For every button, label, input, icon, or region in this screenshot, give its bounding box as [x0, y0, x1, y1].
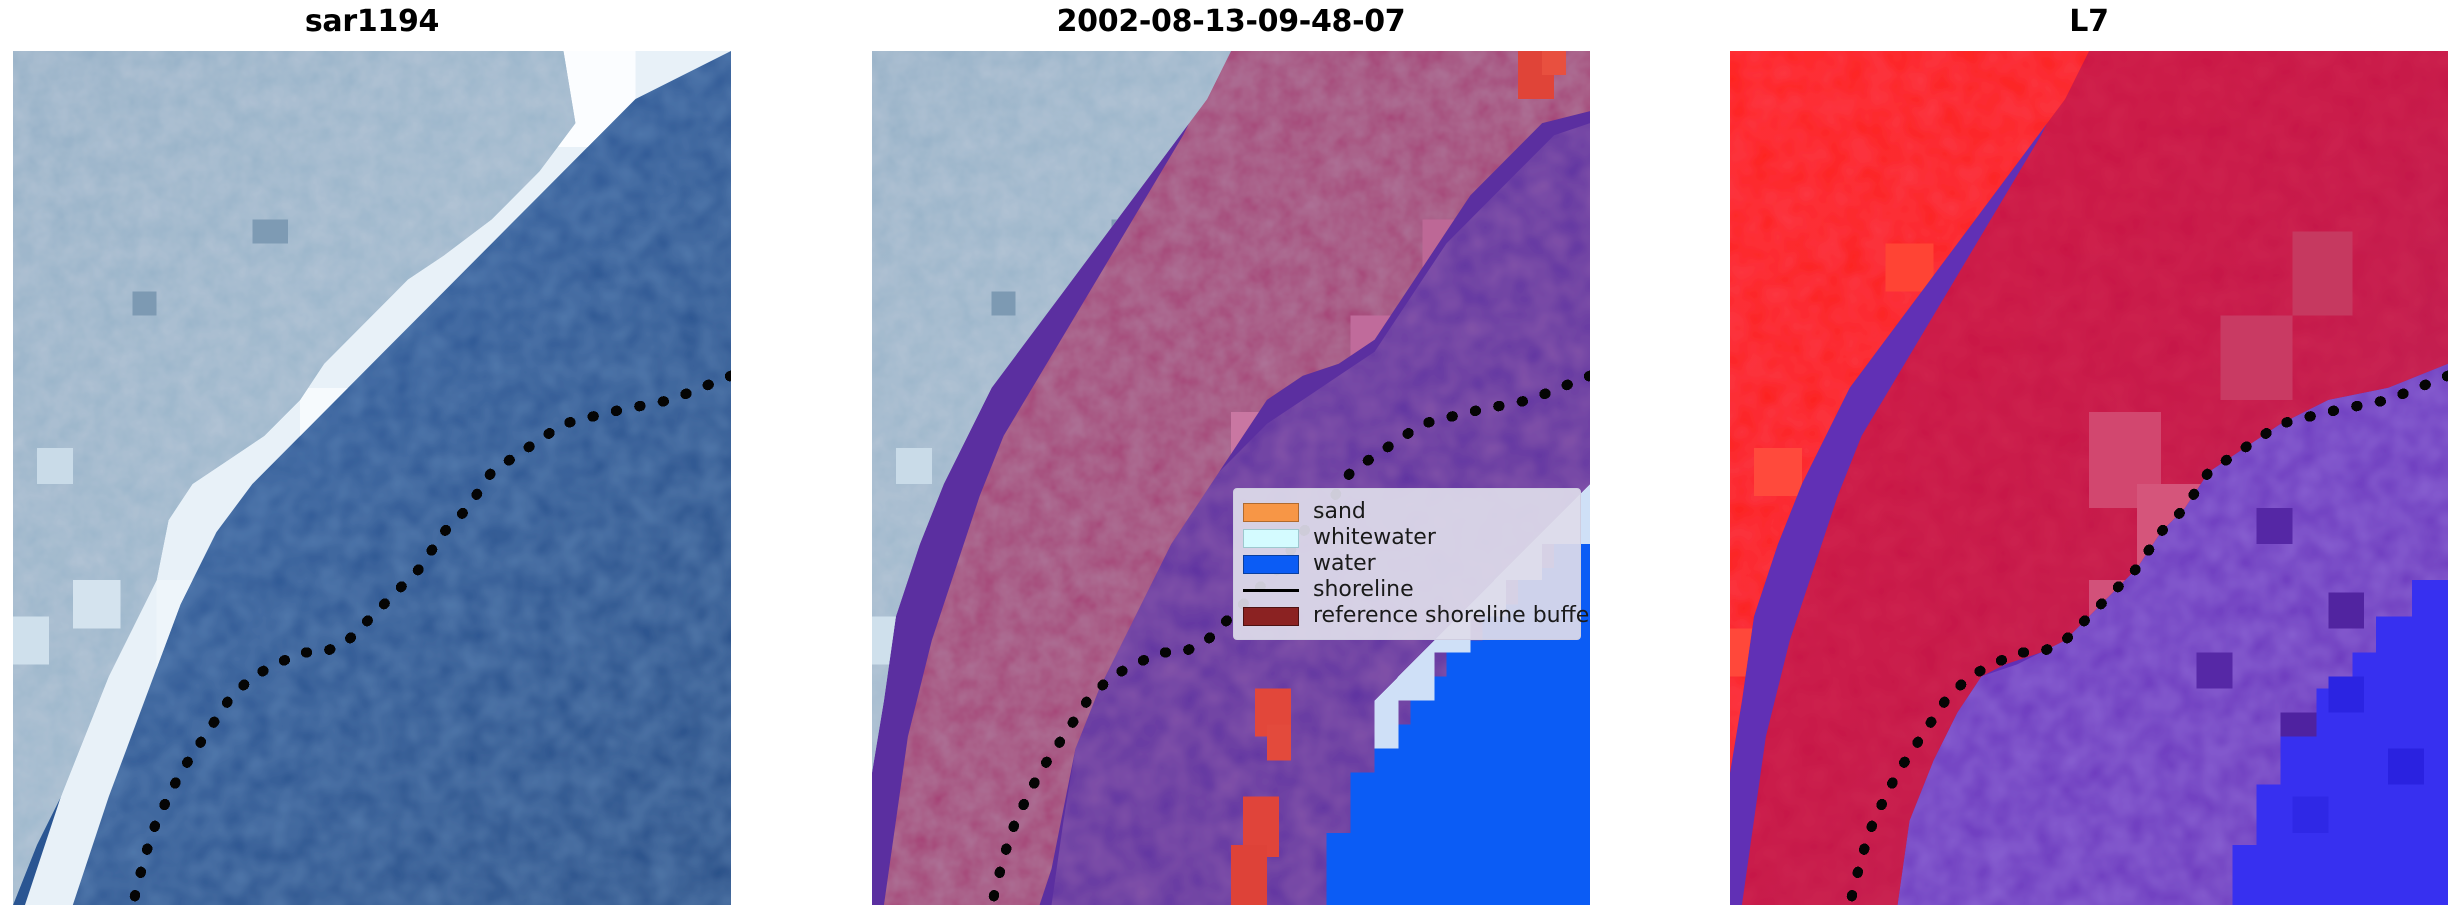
figure-root: sar1194 2002-08-13-09-48-07 L7 — [0, 0, 2460, 920]
legend-label-shoreline: shoreline — [1313, 579, 1414, 601]
legend-item-whitewater: whitewater — [1243, 525, 1571, 551]
rgb-raster — [13, 51, 731, 905]
legend-swatch-reference-buffer-icon — [1243, 607, 1299, 626]
panel-title-1: sar1194 — [13, 4, 731, 39]
legend: sand whitewater water shoreline — [1233, 488, 1581, 640]
legend-label-water: water — [1313, 553, 1376, 575]
classified-raster — [872, 51, 1590, 905]
legend-swatch-whitewater-icon — [1243, 529, 1299, 548]
legend-swatch-water-icon — [1243, 555, 1299, 574]
legend-label-reference-shoreline-buffer: reference shoreline buffer — [1313, 605, 1590, 627]
legend-item-water: water — [1243, 551, 1571, 577]
panel-title-2: 2002-08-13-09-48-07 — [872, 4, 1590, 39]
panel-l7 — [1730, 51, 2448, 905]
legend-label-whitewater: whitewater — [1313, 527, 1436, 549]
panel-rgb — [13, 51, 731, 905]
legend-line-shoreline-icon — [1243, 581, 1299, 600]
panel-title-3: L7 — [1730, 4, 2448, 39]
legend-item-sand: sand — [1243, 499, 1571, 525]
panel-classified: sand whitewater water shoreline — [872, 51, 1590, 905]
l7-raster — [1730, 51, 2448, 905]
legend-label-sand: sand — [1313, 501, 1366, 523]
legend-item-shoreline: shoreline — [1243, 577, 1571, 603]
legend-item-reference-shoreline-buffer: reference shoreline buffer — [1243, 603, 1571, 629]
legend-swatch-sand-icon — [1243, 503, 1299, 522]
